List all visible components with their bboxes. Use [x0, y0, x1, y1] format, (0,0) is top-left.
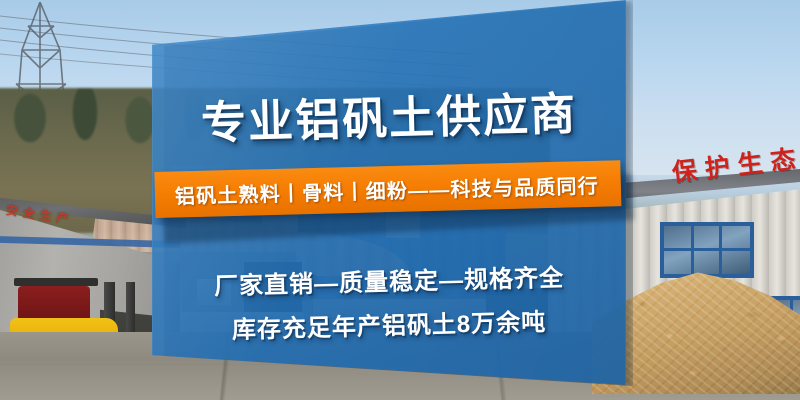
banner-subline-1: 厂家直销—质量稳定—规格齐全 — [152, 256, 627, 303]
orange-tagline-bar: 铝矾土熟料丨骨料丨细粉——科技与品质同行 — [153, 160, 628, 222]
banner-content: 专业铝矾土供应商 铝矾土熟料丨骨料丨细粉——科技与品质同行 厂家直销—质量稳定—… — [152, 0, 626, 400]
banner-headline: 专业铝矾土供应商 — [151, 76, 626, 153]
right-building-window — [660, 222, 754, 278]
promotional-banner: 安全生产 保护生态 — [0, 0, 800, 400]
banner-subline-2: 库存充足年产铝矾土8万余吨 — [152, 300, 627, 347]
forklift-overhead-guard — [14, 278, 98, 286]
